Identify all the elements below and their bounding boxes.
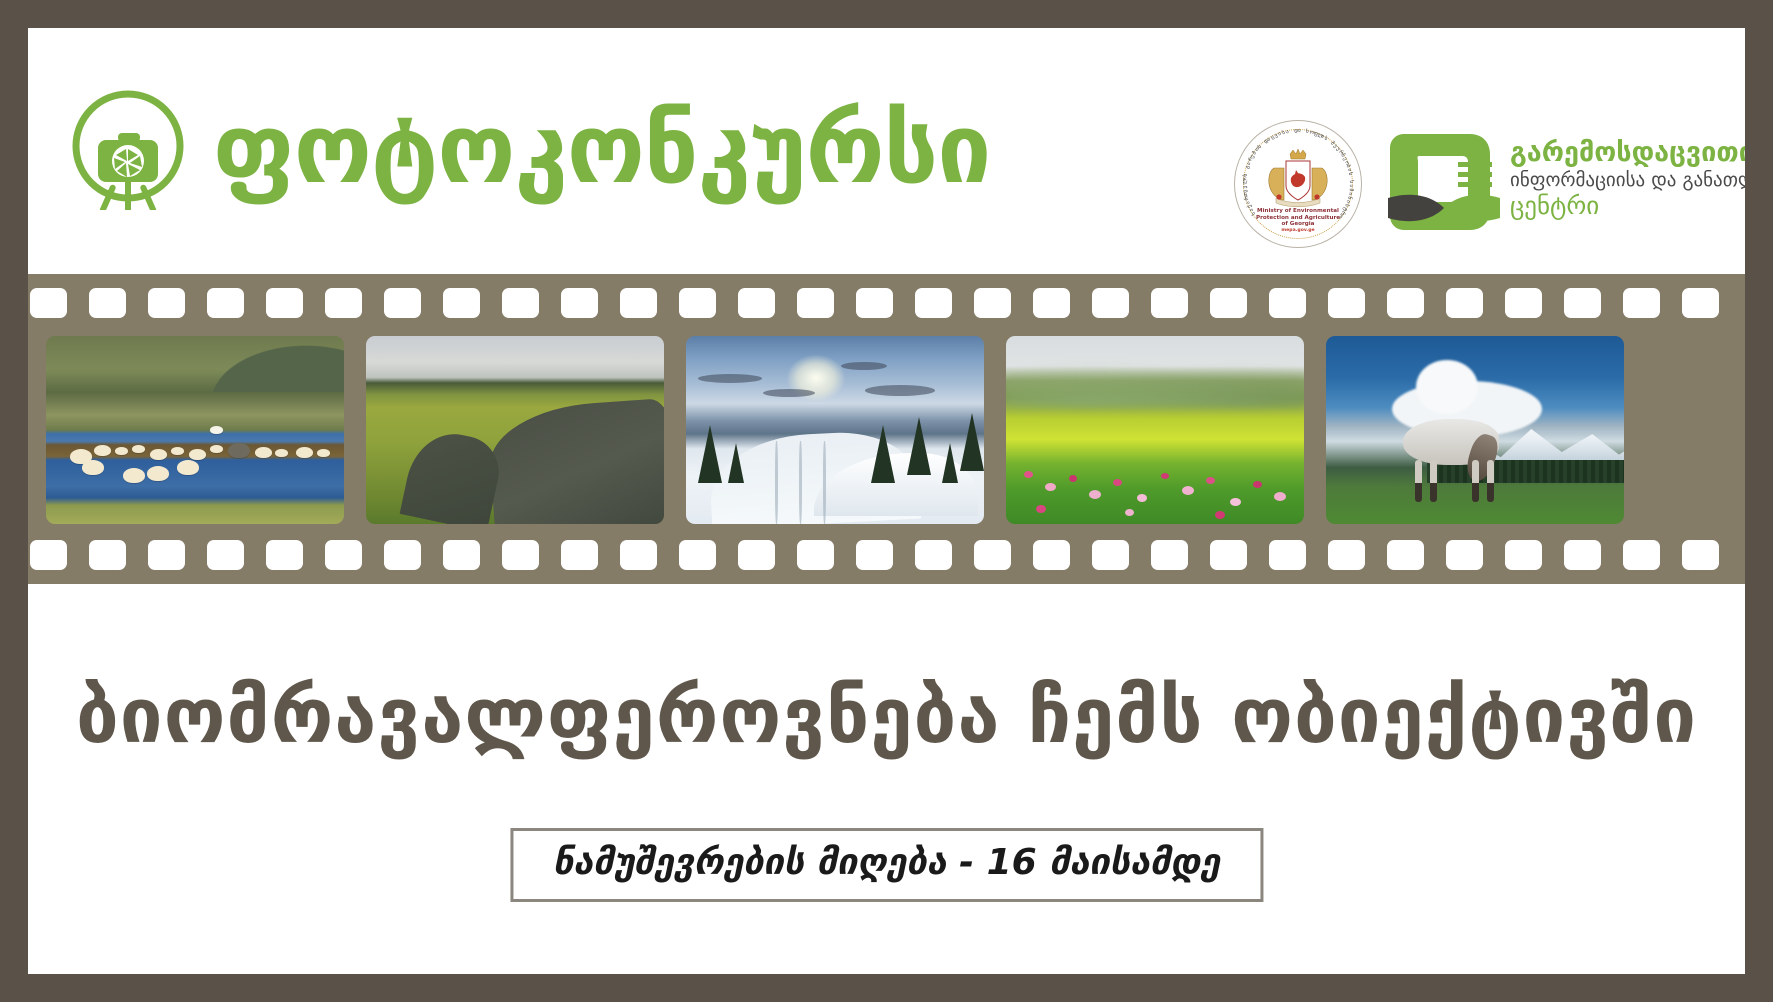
eiec-logo-text: გარემოსდაცვითი ინფორმაციისა და განათლები… — [1510, 138, 1745, 220]
filmstrip-perforation — [561, 288, 598, 318]
filmstrip-perforation — [679, 288, 716, 318]
eiec-logo-mark — [1386, 126, 1504, 238]
filmstrip-perforations-top — [28, 286, 1745, 320]
filmstrip-perforation — [1682, 540, 1719, 570]
ministry-seal-logo: საქართველოს გარემოს დაცვისა და სოფლის მე… — [1234, 120, 1362, 248]
seal-caption-line3: of Georgia — [1234, 221, 1362, 228]
filmstrip-perforation — [620, 288, 657, 318]
seal-arc-char: ა — [1348, 184, 1354, 187]
filmstrip-frame-snowy-road[interactable] — [686, 336, 984, 524]
filmstrip-perforation — [797, 540, 834, 570]
filmstrip-perforation — [797, 288, 834, 318]
photo-snowy-mountain-road — [686, 336, 984, 524]
poster-header: ფოტოკონკურსი — [28, 28, 1745, 276]
seal-arc-char — [1302, 128, 1304, 134]
filmstrip-perforation — [1623, 288, 1660, 318]
filmstrip-perforation — [1328, 288, 1365, 318]
photo-pelicans-on-lake — [46, 336, 344, 524]
filmstrip-perforation — [1682, 288, 1719, 318]
filmstrip-perforation — [1564, 288, 1601, 318]
filmstrip — [28, 274, 1745, 584]
filmstrip-perforation — [974, 540, 1011, 570]
page-title: ფოტოკონკურსი — [213, 90, 990, 208]
filmstrip-perforation — [443, 540, 480, 570]
filmstrip-perforation — [1505, 540, 1542, 570]
camera-tripod-icon — [66, 86, 190, 210]
filmstrip-perforation — [679, 540, 716, 570]
filmstrip-perforation — [1092, 540, 1129, 570]
deadline-text: ნამუშევრების მიღება - 16 მაისამდე — [553, 841, 1220, 885]
seal-arc-char — [1290, 128, 1293, 134]
filmstrip-perforation — [856, 288, 893, 318]
seal-caption-line2: Protection and Agriculture — [1234, 215, 1362, 222]
filmstrip-perforation — [384, 540, 421, 570]
filmstrip-frame-pelicans[interactable] — [46, 336, 344, 524]
filmstrip-perforation — [89, 540, 126, 570]
filmstrip-frame-horse[interactable] — [1326, 336, 1624, 524]
filmstrip-perforation — [207, 288, 244, 318]
filmstrip-perforation — [266, 540, 303, 570]
filmstrip-perforation — [1151, 288, 1188, 318]
filmstrip-perforation — [148, 288, 185, 318]
filmstrip-perforation — [974, 288, 1011, 318]
filmstrip-perforation — [1151, 540, 1188, 570]
eiec-logo-line1: გარემოსდაცვითი — [1510, 138, 1745, 168]
seal-arc-char: ე — [1242, 186, 1248, 189]
poster-root: ფოტოკონკურსი — [0, 0, 1773, 1002]
filmstrip-perforation — [561, 540, 598, 570]
seal-arc-char: მ — [1348, 188, 1354, 191]
filmstrip-perforation — [738, 540, 775, 570]
seal-caption-line1: Ministry of Environmental — [1234, 208, 1362, 215]
filmstrip-perforation — [1387, 540, 1424, 570]
filmstrip-perforation — [502, 540, 539, 570]
filmstrip-perforation — [384, 288, 421, 318]
filmstrip-perforation — [856, 540, 893, 570]
seal-caption: Ministry of Environmental Protection and… — [1234, 208, 1362, 234]
filmstrip-perforation — [266, 288, 303, 318]
photo-wetland-marsh — [366, 336, 664, 524]
filmstrip-perforation — [1033, 288, 1070, 318]
eiec-center-logo: გარემოსდაცვითი ინფორმაციისა და განათლები… — [1386, 120, 1716, 248]
filmstrip-perforation — [443, 288, 480, 318]
filmstrip-perforation — [325, 288, 362, 318]
photo-horse-grazing-mountains — [1326, 336, 1624, 524]
seal-arc-char — [1348, 176, 1354, 178]
filmstrip-perforation — [1623, 540, 1660, 570]
filmstrip-perforation — [1269, 288, 1306, 318]
photo-alpine-flower-meadow — [1006, 336, 1304, 524]
filmstrip-perforation — [1564, 540, 1601, 570]
filmstrip-perforation — [325, 540, 362, 570]
filmstrip-frame-flower-meadow[interactable] — [1006, 336, 1304, 524]
filmstrip-perforation — [915, 540, 952, 570]
filmstrip-perforation — [915, 288, 952, 318]
filmstrip-frames — [46, 336, 1745, 524]
filmstrip-perforation — [207, 540, 244, 570]
filmstrip-perforation — [1269, 540, 1306, 570]
filmstrip-frame-wetland[interactable] — [366, 336, 664, 524]
marsh-hut — [437, 477, 473, 498]
poster-subtitle: ბიომრავალფეროვნება ჩემს ობიექტივში — [28, 668, 1745, 764]
eiec-logo-line2: ინფორმაციისა და განათლების — [1510, 168, 1745, 192]
filmstrip-perforation — [620, 540, 657, 570]
deadline-box: ნამუშევრების მიღება - 16 მაისამდე — [510, 828, 1263, 902]
filmstrip-perforation — [1505, 288, 1542, 318]
seal-arc-char: ა — [1298, 128, 1301, 134]
filmstrip-perforation — [89, 288, 126, 318]
filmstrip-perforations-bottom — [28, 538, 1745, 572]
poster-card: ფოტოკონკურსი — [28, 28, 1745, 974]
filmstrip-perforation — [1092, 288, 1129, 318]
filmstrip-perforation — [1210, 288, 1247, 318]
eiec-logo-line3: ცენტრი — [1510, 192, 1745, 220]
filmstrip-perforation — [738, 288, 775, 318]
filmstrip-perforation — [1446, 540, 1483, 570]
filmstrip-perforation — [1210, 540, 1247, 570]
filmstrip-perforation — [1328, 540, 1365, 570]
filmstrip-perforation — [1033, 540, 1070, 570]
seal-arc-char: ს — [1348, 180, 1354, 183]
filmstrip-perforation — [502, 288, 539, 318]
filmstrip-perforation — [30, 540, 67, 570]
filmstrip-perforation — [1446, 288, 1483, 318]
filmstrip-perforation — [30, 288, 67, 318]
filmstrip-perforation — [1387, 288, 1424, 318]
filmstrip-perforation — [148, 540, 185, 570]
seal-caption-line4: mepa.gov.ge — [1234, 228, 1362, 235]
